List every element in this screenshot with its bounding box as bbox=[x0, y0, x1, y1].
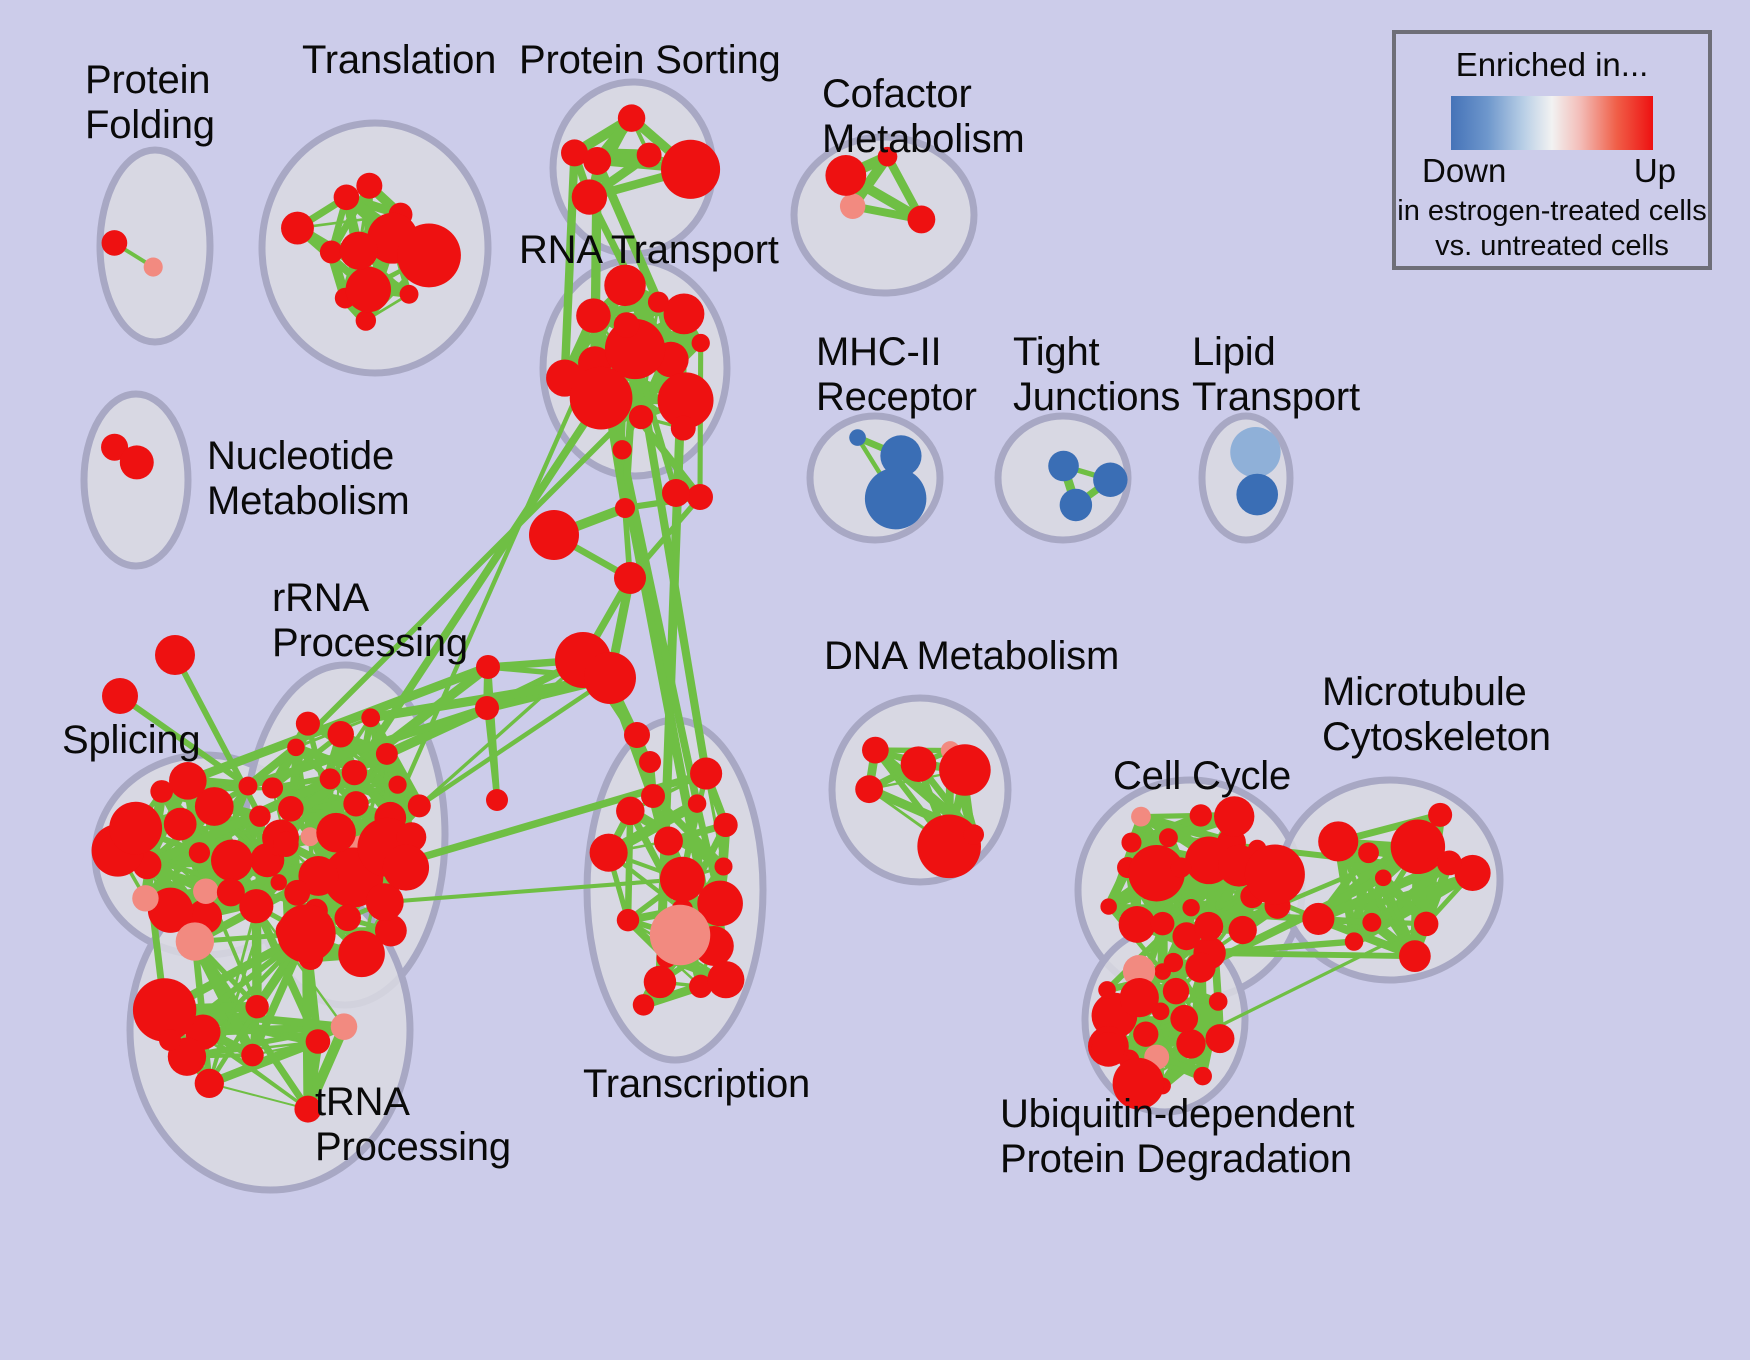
cluster-label-tight-junctions: Tight Junctions bbox=[1013, 330, 1180, 420]
cluster-label-microtubule-cytoskeleton: Microtubule Cytoskeleton bbox=[1322, 670, 1551, 760]
network-node-linker[interactable] bbox=[486, 789, 508, 811]
network-node-trna-processing[interactable] bbox=[245, 995, 268, 1018]
network-node-transcription[interactable] bbox=[714, 813, 738, 837]
network-node-rrna-processing[interactable] bbox=[296, 712, 320, 736]
cluster-label-cofactor-metabolism: Cofactor Metabolism bbox=[822, 72, 1025, 162]
network-node-ubiquitin-protein-degradation[interactable] bbox=[1133, 1022, 1158, 1047]
network-node-linker[interactable] bbox=[476, 655, 500, 679]
network-node-rrna-processing[interactable] bbox=[287, 739, 305, 757]
network-node-trna-processing[interactable] bbox=[306, 1029, 331, 1054]
network-node-protein-sorting[interactable] bbox=[572, 179, 607, 214]
network-node-trna-processing[interactable] bbox=[176, 922, 214, 960]
network-node-transcription[interactable] bbox=[654, 826, 683, 855]
network-node-microtubule-cytoskeleton[interactable] bbox=[1302, 903, 1334, 935]
network-node-ubiquitin-protein-degradation[interactable] bbox=[1164, 953, 1183, 972]
network-node-microtubule-cytoskeleton[interactable] bbox=[1399, 940, 1431, 972]
legend-up-label: Up bbox=[1634, 152, 1676, 190]
cluster-hull-nucleotide-metabolism bbox=[84, 394, 188, 566]
network-node-ubiquitin-protein-degradation[interactable] bbox=[1193, 1067, 1212, 1086]
network-node-transcription[interactable] bbox=[690, 758, 722, 790]
network-node-microtubule-cytoskeleton[interactable] bbox=[1428, 803, 1452, 827]
network-node-translation[interactable] bbox=[397, 224, 461, 288]
network-node-cofactor-metabolism[interactable] bbox=[840, 193, 865, 218]
network-node-linker[interactable] bbox=[624, 722, 650, 748]
network-node-rrna-processing[interactable] bbox=[262, 777, 283, 798]
network-node-microtubule-cytoskeleton[interactable] bbox=[1318, 821, 1358, 861]
network-node-splicing[interactable] bbox=[109, 802, 162, 855]
legend-box: Enriched in... Down Up in estrogen-treat… bbox=[1392, 30, 1712, 270]
cluster-label-rrna-processing: rRNA Processing bbox=[272, 576, 468, 666]
network-node-rrna-processing[interactable] bbox=[408, 794, 431, 817]
network-node-trna-processing[interactable] bbox=[239, 889, 273, 923]
network-node-rna-transport[interactable] bbox=[612, 440, 631, 459]
network-node-rrna-processing[interactable] bbox=[343, 791, 368, 816]
network-node-rna-transport[interactable] bbox=[614, 312, 640, 338]
network-node-cell-cycle[interactable] bbox=[1194, 912, 1223, 941]
network-node-cell-cycle[interactable] bbox=[1159, 828, 1178, 847]
cluster-label-rna-transport: RNA Transport bbox=[519, 228, 779, 273]
cluster-label-translation: Translation bbox=[302, 38, 496, 83]
cluster-label-nucleotide-metabolism: Nucleotide Metabolism bbox=[207, 434, 410, 524]
network-node-rna-transport[interactable] bbox=[671, 416, 696, 441]
network-node-protein-sorting[interactable] bbox=[618, 104, 645, 131]
network-node-rrna-processing[interactable] bbox=[376, 743, 398, 765]
network-node-rna-transport[interactable] bbox=[570, 367, 633, 430]
network-node-protein-sorting[interactable] bbox=[661, 140, 720, 199]
network-node-ubiquitin-protein-degradation[interactable] bbox=[1170, 1005, 1198, 1033]
network-node-translation[interactable] bbox=[340, 232, 378, 270]
network-node-splicing[interactable] bbox=[193, 878, 219, 904]
network-node-ubiquitin-protein-degradation[interactable] bbox=[1209, 992, 1228, 1011]
legend-caption-line-1: in estrogen-treated cells bbox=[1396, 195, 1708, 229]
network-node-cell-cycle[interactable] bbox=[1121, 832, 1141, 852]
network-node-microtubule-cytoskeleton[interactable] bbox=[1345, 932, 1363, 950]
network-node-dna-metabolism[interactable] bbox=[901, 746, 937, 782]
network-node-rrna-processing[interactable] bbox=[316, 813, 356, 853]
network-node-ubiquitin-protein-degradation[interactable] bbox=[1176, 1029, 1205, 1058]
network-node-translation[interactable] bbox=[356, 173, 382, 199]
network-node-splicing[interactable] bbox=[271, 874, 287, 890]
network-node-rrna-processing[interactable] bbox=[278, 796, 304, 822]
cluster-label-dna-metabolism: DNA Metabolism bbox=[824, 634, 1119, 679]
network-node-satellite[interactable] bbox=[159, 1029, 181, 1051]
network-node-splicing[interactable] bbox=[169, 762, 207, 800]
network-node-cell-cycle[interactable] bbox=[1182, 899, 1199, 916]
network-node-microtubule-cytoskeleton[interactable] bbox=[1362, 913, 1381, 932]
network-node-lipid-transport[interactable] bbox=[1230, 427, 1280, 477]
network-node-microtubule-cytoskeleton[interactable] bbox=[1358, 842, 1379, 863]
network-node-rna-transport[interactable] bbox=[692, 334, 710, 352]
network-node-rrna-processing[interactable] bbox=[342, 760, 367, 785]
network-node-rna-transport[interactable] bbox=[664, 293, 705, 334]
legend-down-label: Down bbox=[1422, 152, 1506, 190]
network-node-splicing[interactable] bbox=[189, 842, 210, 863]
network-node-transcription[interactable] bbox=[660, 857, 705, 902]
network-node-dna-metabolism[interactable] bbox=[963, 824, 984, 845]
network-node-tight-junctions[interactable] bbox=[1093, 463, 1127, 497]
network-node-microtubule-cytoskeleton[interactable] bbox=[1414, 912, 1438, 936]
network-node-microtubule-cytoskeleton[interactable] bbox=[1391, 820, 1445, 874]
network-node-translation[interactable] bbox=[400, 285, 419, 304]
network-node-mhc-ii-receptor[interactable] bbox=[865, 468, 926, 529]
network-node-trna-processing[interactable] bbox=[277, 904, 335, 962]
network-node-cell-cycle[interactable] bbox=[1151, 912, 1175, 936]
network-node-linker[interactable] bbox=[584, 652, 636, 704]
enrichment-map-figure: Protein FoldingTranslationProtein Sortin… bbox=[0, 0, 1750, 1360]
cluster-label-lipid-transport: Lipid Transport bbox=[1192, 330, 1360, 420]
network-node-dna-metabolism[interactable] bbox=[862, 737, 889, 764]
network-node-cell-cycle[interactable] bbox=[1245, 845, 1305, 905]
network-node-splicing[interactable] bbox=[239, 777, 258, 796]
network-node-translation[interactable] bbox=[356, 310, 376, 330]
network-node-rrna-processing[interactable] bbox=[383, 844, 429, 890]
network-node-microtubule-cytoskeleton[interactable] bbox=[1437, 851, 1462, 876]
cluster-label-ubiquitin-protein-degradation: Ubiquitin-dependent Protein Degradation bbox=[1000, 1092, 1354, 1182]
network-node-ubiquitin-protein-degradation[interactable] bbox=[1098, 981, 1116, 999]
network-node-protein-folding[interactable] bbox=[144, 258, 163, 277]
network-node-protein-sorting[interactable] bbox=[583, 147, 611, 175]
network-node-translation[interactable] bbox=[281, 212, 314, 245]
legend-caption-line-2: vs. untreated cells bbox=[1396, 230, 1708, 264]
network-node-ubiquitin-protein-degradation[interactable] bbox=[1092, 1032, 1125, 1065]
network-node-linker[interactable] bbox=[529, 510, 579, 560]
network-node-transcription[interactable] bbox=[633, 994, 654, 1015]
network-node-translation[interactable] bbox=[320, 241, 343, 264]
network-node-linker[interactable] bbox=[615, 498, 635, 518]
cluster-label-splicing: Splicing bbox=[62, 718, 200, 763]
network-node-transcription[interactable] bbox=[616, 797, 644, 825]
network-node-dna-metabolism[interactable] bbox=[855, 775, 883, 803]
network-node-cell-cycle[interactable] bbox=[1228, 916, 1256, 944]
network-node-satellite[interactable] bbox=[102, 678, 138, 714]
network-node-ubiquitin-protein-degradation[interactable] bbox=[1163, 978, 1189, 1004]
network-node-cell-cycle[interactable] bbox=[1190, 804, 1212, 826]
network-node-tight-junctions[interactable] bbox=[1060, 489, 1092, 521]
legend-color-gradient bbox=[1451, 96, 1653, 150]
cluster-label-transcription: Transcription bbox=[583, 1062, 810, 1107]
network-node-trna-processing[interactable] bbox=[331, 1013, 358, 1040]
network-node-ubiquitin-protein-degradation[interactable] bbox=[1185, 952, 1215, 982]
network-node-trna-processing[interactable] bbox=[241, 1044, 264, 1067]
network-node-transcription[interactable] bbox=[650, 905, 710, 965]
network-node-transcription[interactable] bbox=[644, 966, 676, 998]
network-node-dna-metabolism[interactable] bbox=[917, 815, 981, 879]
network-node-nucleotide-metabolism[interactable] bbox=[120, 445, 154, 479]
network-node-cell-cycle[interactable] bbox=[1119, 906, 1156, 943]
network-node-translation[interactable] bbox=[346, 267, 391, 312]
network-node-splicing[interactable] bbox=[211, 840, 253, 882]
network-node-splicing[interactable] bbox=[164, 808, 197, 841]
cluster-label-cell-cycle: Cell Cycle bbox=[1113, 754, 1291, 799]
network-node-trna-processing[interactable] bbox=[195, 1069, 224, 1098]
network-node-splicing[interactable] bbox=[150, 780, 173, 803]
network-node-linker[interactable] bbox=[614, 562, 646, 594]
cluster-label-protein-sorting: Protein Sorting bbox=[519, 38, 781, 83]
network-node-transcription[interactable] bbox=[707, 961, 744, 998]
network-node-transcription[interactable] bbox=[590, 834, 628, 872]
cluster-label-trna-processing: tRNA Processing bbox=[315, 1080, 511, 1170]
network-node-linker[interactable] bbox=[687, 484, 713, 510]
legend-title: Enriched in... bbox=[1396, 46, 1708, 84]
network-node-linker[interactable] bbox=[475, 696, 499, 720]
network-node-mhc-ii-receptor[interactable] bbox=[849, 429, 866, 446]
network-node-cofactor-metabolism[interactable] bbox=[907, 206, 935, 234]
network-node-satellite[interactable] bbox=[662, 479, 690, 507]
network-node-rrna-processing[interactable] bbox=[284, 880, 310, 906]
network-node-ubiquitin-protein-degradation[interactable] bbox=[1205, 1024, 1234, 1053]
network-node-transcription[interactable] bbox=[617, 909, 639, 931]
network-node-rrna-processing[interactable] bbox=[334, 905, 361, 932]
network-node-rrna-processing[interactable] bbox=[328, 721, 354, 747]
cluster-label-protein-folding: Protein Folding bbox=[85, 58, 215, 148]
network-node-splicing[interactable] bbox=[132, 885, 158, 911]
network-node-rrna-processing[interactable] bbox=[273, 831, 299, 857]
network-node-microtubule-cytoskeleton[interactable] bbox=[1375, 870, 1392, 887]
network-node-rna-transport[interactable] bbox=[629, 405, 653, 429]
network-node-rrna-processing[interactable] bbox=[361, 708, 380, 727]
network-node-rrna-processing[interactable] bbox=[320, 768, 341, 789]
network-node-cell-cycle[interactable] bbox=[1214, 796, 1254, 836]
network-node-ubiquitin-protein-degradation[interactable] bbox=[1152, 1002, 1170, 1020]
network-node-protein-sorting[interactable] bbox=[637, 143, 662, 168]
network-node-translation[interactable] bbox=[334, 185, 360, 211]
network-node-rna-transport[interactable] bbox=[648, 292, 669, 313]
cluster-label-mhc-ii-receptor: MHC-II Receptor bbox=[816, 330, 977, 420]
network-node-cell-cycle[interactable] bbox=[1100, 898, 1116, 914]
network-node-linker[interactable] bbox=[639, 751, 661, 773]
network-node-tight-junctions[interactable] bbox=[1048, 451, 1079, 482]
network-node-protein-folding[interactable] bbox=[102, 230, 128, 256]
network-node-transcription[interactable] bbox=[714, 857, 732, 875]
network-node-rrna-processing[interactable] bbox=[338, 931, 385, 978]
network-node-splicing[interactable] bbox=[249, 806, 270, 827]
network-node-satellite[interactable] bbox=[155, 635, 195, 675]
network-node-cell-cycle[interactable] bbox=[1131, 807, 1151, 827]
legend-endpoints: Down Up bbox=[1414, 152, 1690, 194]
network-node-lipid-transport[interactable] bbox=[1236, 474, 1278, 516]
network-node-transcription[interactable] bbox=[688, 794, 706, 812]
network-node-rna-transport[interactable] bbox=[576, 298, 611, 333]
network-node-linker[interactable] bbox=[641, 784, 665, 808]
network-node-rrna-processing[interactable] bbox=[388, 776, 406, 794]
network-node-dna-metabolism[interactable] bbox=[939, 744, 991, 796]
network-node-cell-cycle[interactable] bbox=[1171, 857, 1191, 877]
